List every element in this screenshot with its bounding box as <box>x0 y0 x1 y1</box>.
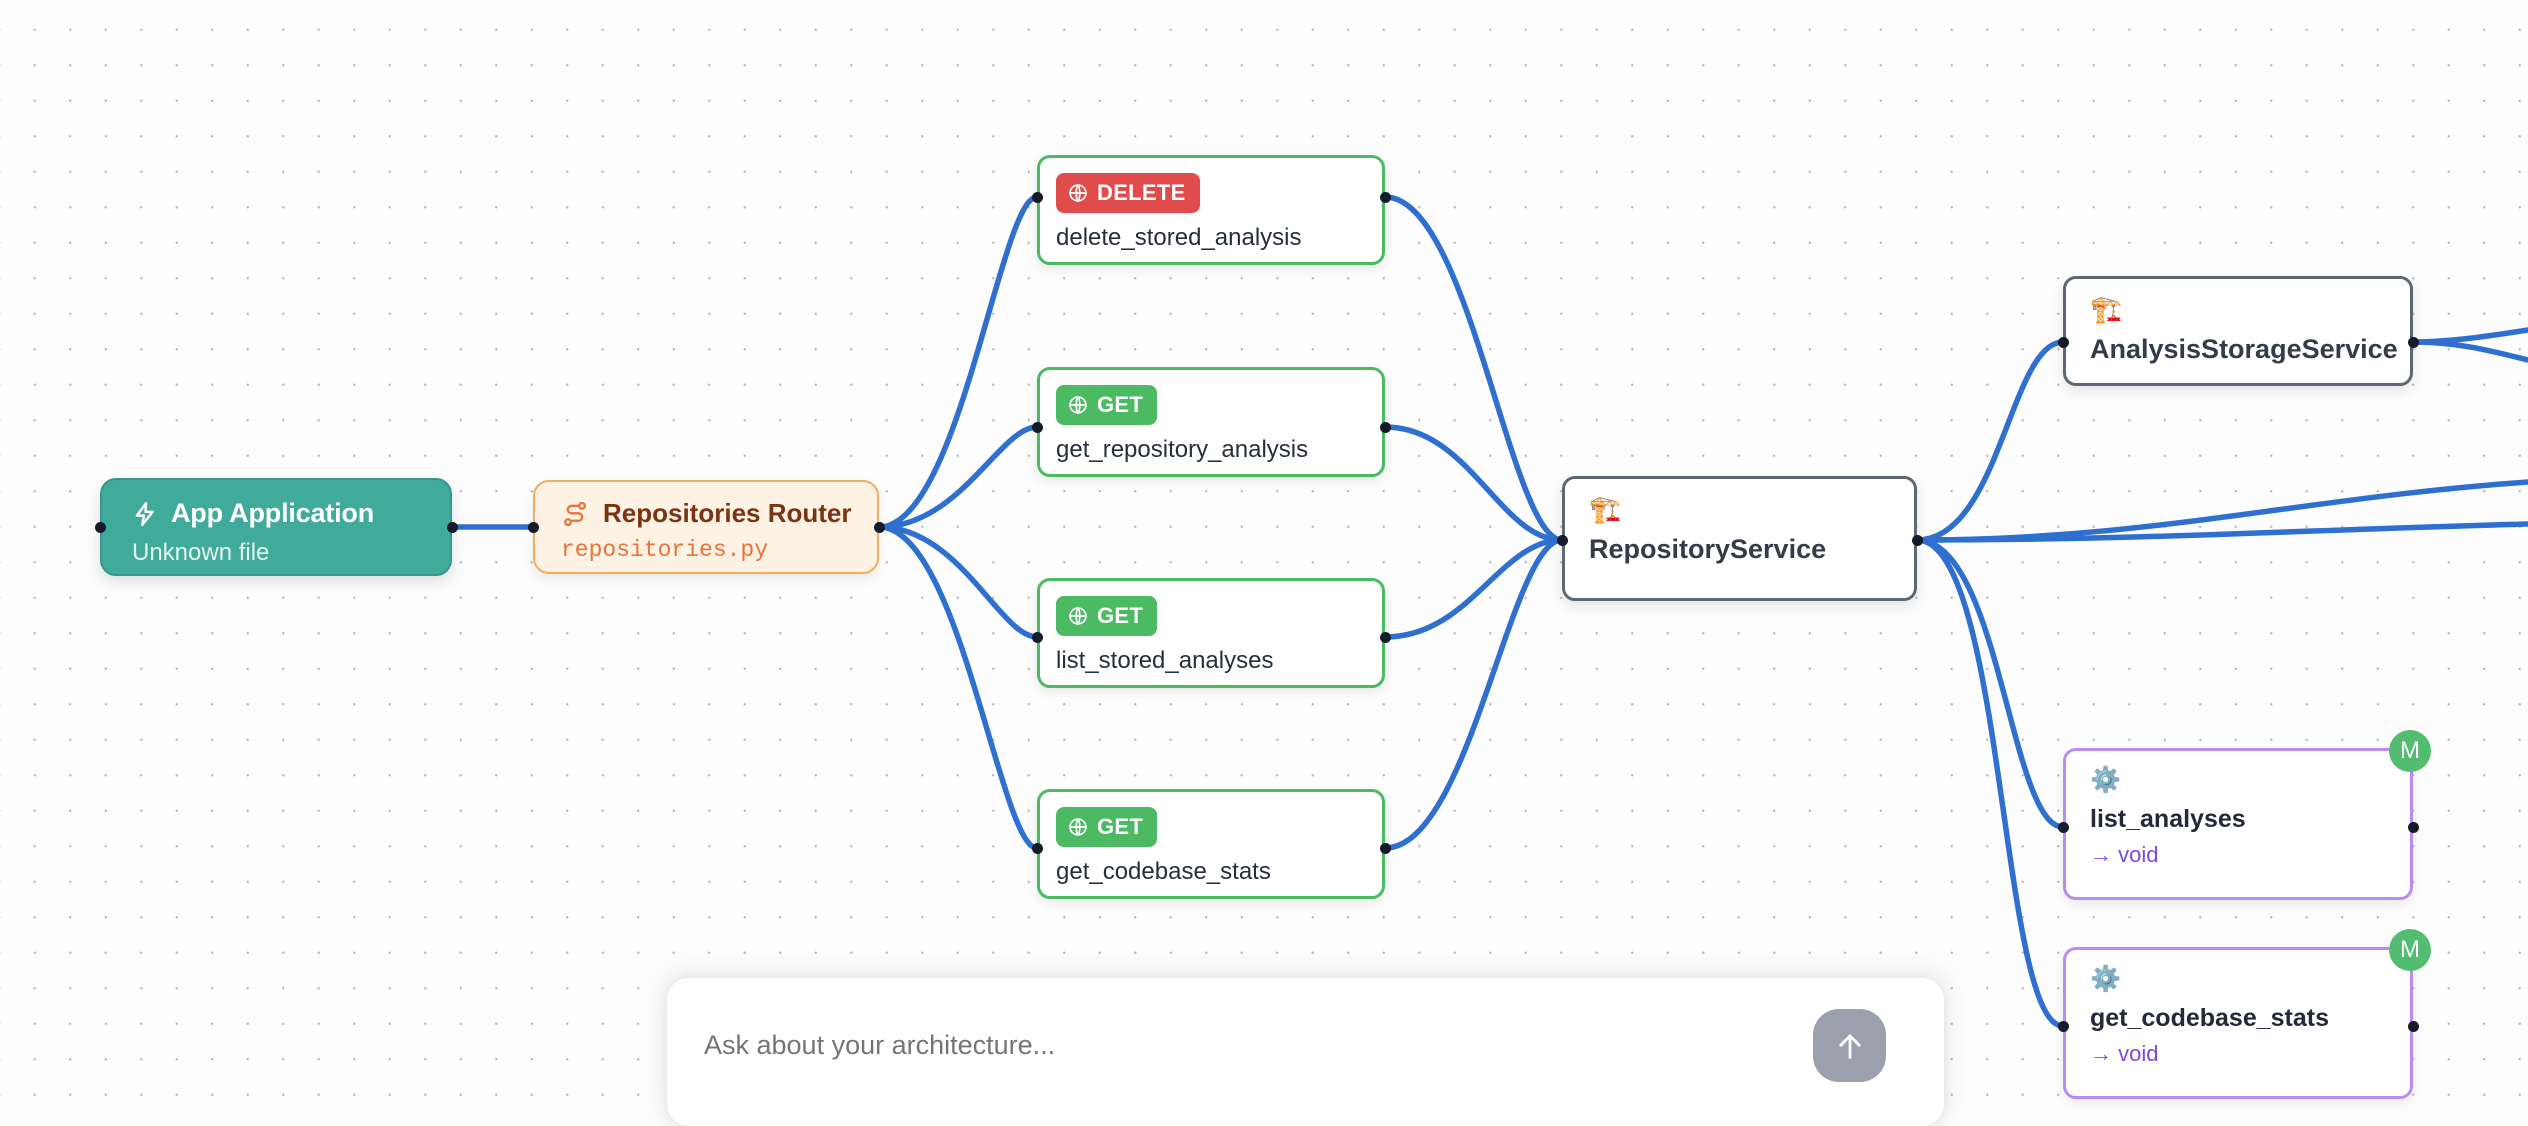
port-router-left[interactable] <box>528 522 539 533</box>
port-analysisstorageservice-right[interactable] <box>2408 337 2419 348</box>
app-title: App Application <box>171 498 374 529</box>
send-button[interactable] <box>1813 1009 1886 1082</box>
edge-repositoryservice-to-list-analyses <box>1917 540 2063 827</box>
method-badge-m: M <box>2389 730 2431 772</box>
port-analysisstorageservice-left[interactable] <box>2058 337 2069 348</box>
edge-delete-stored-analysis-to-repositoryservice <box>1385 197 1562 540</box>
router-icon <box>561 500 589 528</box>
globe-icon <box>1068 183 1088 203</box>
method-label: GET <box>1097 814 1143 840</box>
method-name: list_analyses <box>2090 805 2410 834</box>
globe-icon <box>1068 395 1088 415</box>
endpoint-name: list_stored_analyses <box>1056 647 1382 675</box>
method-badge-delete: DELETE <box>1056 173 1200 213</box>
construction-icon: 🏗️ <box>1589 496 1914 522</box>
endpoint-name: get_repository_analysis <box>1056 436 1382 464</box>
gear-icon: ⚙️ <box>2090 967 2410 992</box>
node-service-repositoryservice[interactable]: 🏗️ RepositoryService <box>1562 476 1917 601</box>
gear-icon: ⚙️ <box>2090 768 2410 793</box>
port-get-repository-analysis-right[interactable] <box>1380 422 1391 433</box>
port-list-stored-analyses-right[interactable] <box>1380 632 1391 643</box>
port-router-right[interactable] <box>874 522 885 533</box>
bolt-icon <box>132 499 158 529</box>
edge-repositoryservice-to-analysisstorageservice <box>1917 342 2063 540</box>
edge-get-repository-analysis-to-repositoryservice <box>1385 427 1562 540</box>
globe-icon <box>1068 817 1088 837</box>
port-get-codebase-stats-left[interactable] <box>1032 843 1043 854</box>
method-label: DELETE <box>1097 180 1186 206</box>
node-repositories-router[interactable]: Repositories Router repositories.py <box>533 480 879 574</box>
edge-router-to-get-repository-analysis <box>879 427 1037 527</box>
node-method-get-codebase-stats[interactable]: M ⚙️ get_codebase_stats → void <box>2063 947 2413 1099</box>
edge-repositoryservice-offcanvas-b <box>1917 524 2528 540</box>
edge-router-to-get-codebase-stats <box>879 527 1037 848</box>
method-badge-get: GET <box>1056 596 1157 636</box>
edge-analysisstorageservice-offcanvas-a <box>2413 330 2528 342</box>
method-label: GET <box>1097 392 1143 418</box>
service-name: RepositoryService <box>1589 534 1914 565</box>
node-endpoint-delete-stored-analysis[interactable]: DELETE delete_stored_analysis <box>1037 155 1385 265</box>
chat-input-bar[interactable] <box>667 978 1944 1126</box>
architecture-graph-canvas[interactable]: App Application Unknown file Repositorie… <box>0 0 2528 1126</box>
port-repositoryservice-right[interactable] <box>1912 535 1923 546</box>
port-get-codebase-stats-right[interactable] <box>1380 843 1391 854</box>
edge-repositoryservice-to-get-codebase-stats-method <box>1917 540 2063 1026</box>
port-get-codebase-stats-method-left[interactable] <box>2058 1021 2069 1032</box>
node-service-analysisstorageservice[interactable]: 🏗️ AnalysisStorageService <box>2063 276 2413 386</box>
port-app-right[interactable] <box>447 522 458 533</box>
router-title-row: Repositories Router <box>561 498 851 529</box>
arrow-up-icon <box>1833 1029 1867 1063</box>
method-label: GET <box>1097 603 1143 629</box>
app-title-row: App Application <box>132 498 426 529</box>
port-get-repository-analysis-left[interactable] <box>1032 422 1043 433</box>
endpoint-name: delete_stored_analysis <box>1056 224 1382 252</box>
port-delete-stored-analysis-left[interactable] <box>1032 192 1043 203</box>
port-get-codebase-stats-method-right[interactable] <box>2408 1021 2419 1032</box>
method-badge-get: GET <box>1056 385 1157 425</box>
port-list-analyses-left[interactable] <box>2058 822 2069 833</box>
node-app-application[interactable]: App Application Unknown file <box>100 478 452 576</box>
method-return-type: → void <box>2090 1041 2410 1067</box>
port-repositoryservice-left[interactable] <box>1557 535 1568 546</box>
app-subtitle: Unknown file <box>132 539 426 567</box>
node-endpoint-list-stored-analyses[interactable]: GET list_stored_analyses <box>1037 578 1385 688</box>
edge-list-stored-analyses-to-repositoryservice <box>1385 540 1562 637</box>
node-method-list-analyses[interactable]: M ⚙️ list_analyses → void <box>2063 748 2413 900</box>
router-title: Repositories Router <box>603 498 852 529</box>
chat-input[interactable] <box>702 1029 1756 1062</box>
node-endpoint-get-repository-analysis[interactable]: GET get_repository_analysis <box>1037 367 1385 477</box>
edge-router-to-delete-stored-analysis <box>879 197 1037 527</box>
edge-get-codebase-stats-to-repositoryservice <box>1385 540 1562 848</box>
method-return-type: → void <box>2090 842 2410 868</box>
globe-icon <box>1068 606 1088 626</box>
node-endpoint-get-codebase-stats[interactable]: GET get_codebase_stats <box>1037 789 1385 899</box>
construction-icon: 🏗️ <box>2090 296 2410 322</box>
service-name: AnalysisStorageService <box>2090 334 2410 365</box>
port-delete-stored-analysis-right[interactable] <box>1380 192 1391 203</box>
method-badge-get: GET <box>1056 807 1157 847</box>
method-badge-m: M <box>2389 929 2431 971</box>
port-app-left[interactable] <box>95 522 106 533</box>
port-list-analyses-right[interactable] <box>2408 822 2419 833</box>
edge-router-to-list-stored-analyses <box>879 527 1037 637</box>
edge-analysisstorageservice-offcanvas-b <box>2413 342 2528 360</box>
edge-repositoryservice-offcanvas-a <box>1917 482 2528 540</box>
endpoint-name: get_codebase_stats <box>1056 858 1382 886</box>
method-name: get_codebase_stats <box>2090 1004 2410 1033</box>
router-file-name: repositories.py <box>561 537 851 563</box>
port-list-stored-analyses-left[interactable] <box>1032 632 1043 643</box>
